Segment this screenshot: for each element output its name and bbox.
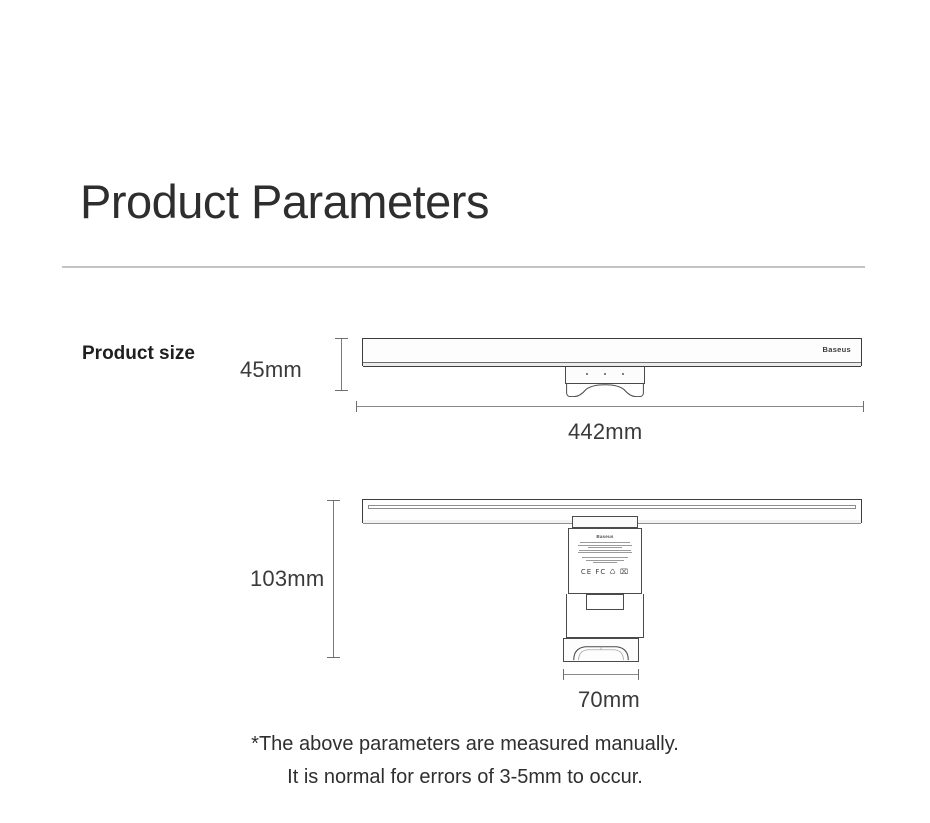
dimension-label-height-side: 103mm — [250, 566, 324, 592]
footnote: *The above parameters are measured manua… — [0, 728, 930, 794]
dimension-line-height-side — [333, 500, 334, 658]
product-size-label: Product size — [82, 343, 195, 365]
stem-top-connector — [572, 516, 638, 528]
dimension-line-width-front — [356, 406, 864, 407]
stem-label-panel: Baseus CE FC ♺ ⌧ — [568, 528, 642, 594]
title-divider — [62, 266, 865, 268]
baseus-logo: Baseus — [823, 345, 851, 354]
rear-label-fineprint — [569, 542, 641, 563]
lamp-bar-rear-slot — [368, 505, 856, 509]
rear-label-brand: Baseus — [569, 534, 641, 539]
product-parameters-page: Product Parameters Product size 45mm Bas… — [0, 0, 930, 823]
certification-marks-icon: CE FC ♺ ⌧ — [569, 568, 641, 576]
footnote-line-2: It is normal for errors of 3-5mm to occu… — [0, 761, 930, 794]
base-clamp-arch — [564, 639, 638, 661]
product-rear-label: Baseus CE FC ♺ ⌧ — [569, 534, 641, 576]
stem-hinge-block — [586, 594, 624, 610]
bracket-clip-arch — [566, 384, 644, 397]
dimension-label-depth-base: 70mm — [578, 687, 640, 713]
dimension-label-height-front: 45mm — [240, 357, 302, 383]
mounting-bracket-front — [565, 367, 645, 384]
stem-base-clamp — [563, 638, 639, 662]
footnote-line-1: *The above parameters are measured manua… — [0, 728, 930, 761]
dimension-line-depth-base — [563, 674, 639, 675]
dimension-line-height-front — [341, 338, 342, 391]
dimension-label-width-front: 442mm — [568, 419, 642, 445]
page-title: Product Parameters — [80, 178, 489, 225]
bracket-screw-dots — [566, 373, 644, 375]
